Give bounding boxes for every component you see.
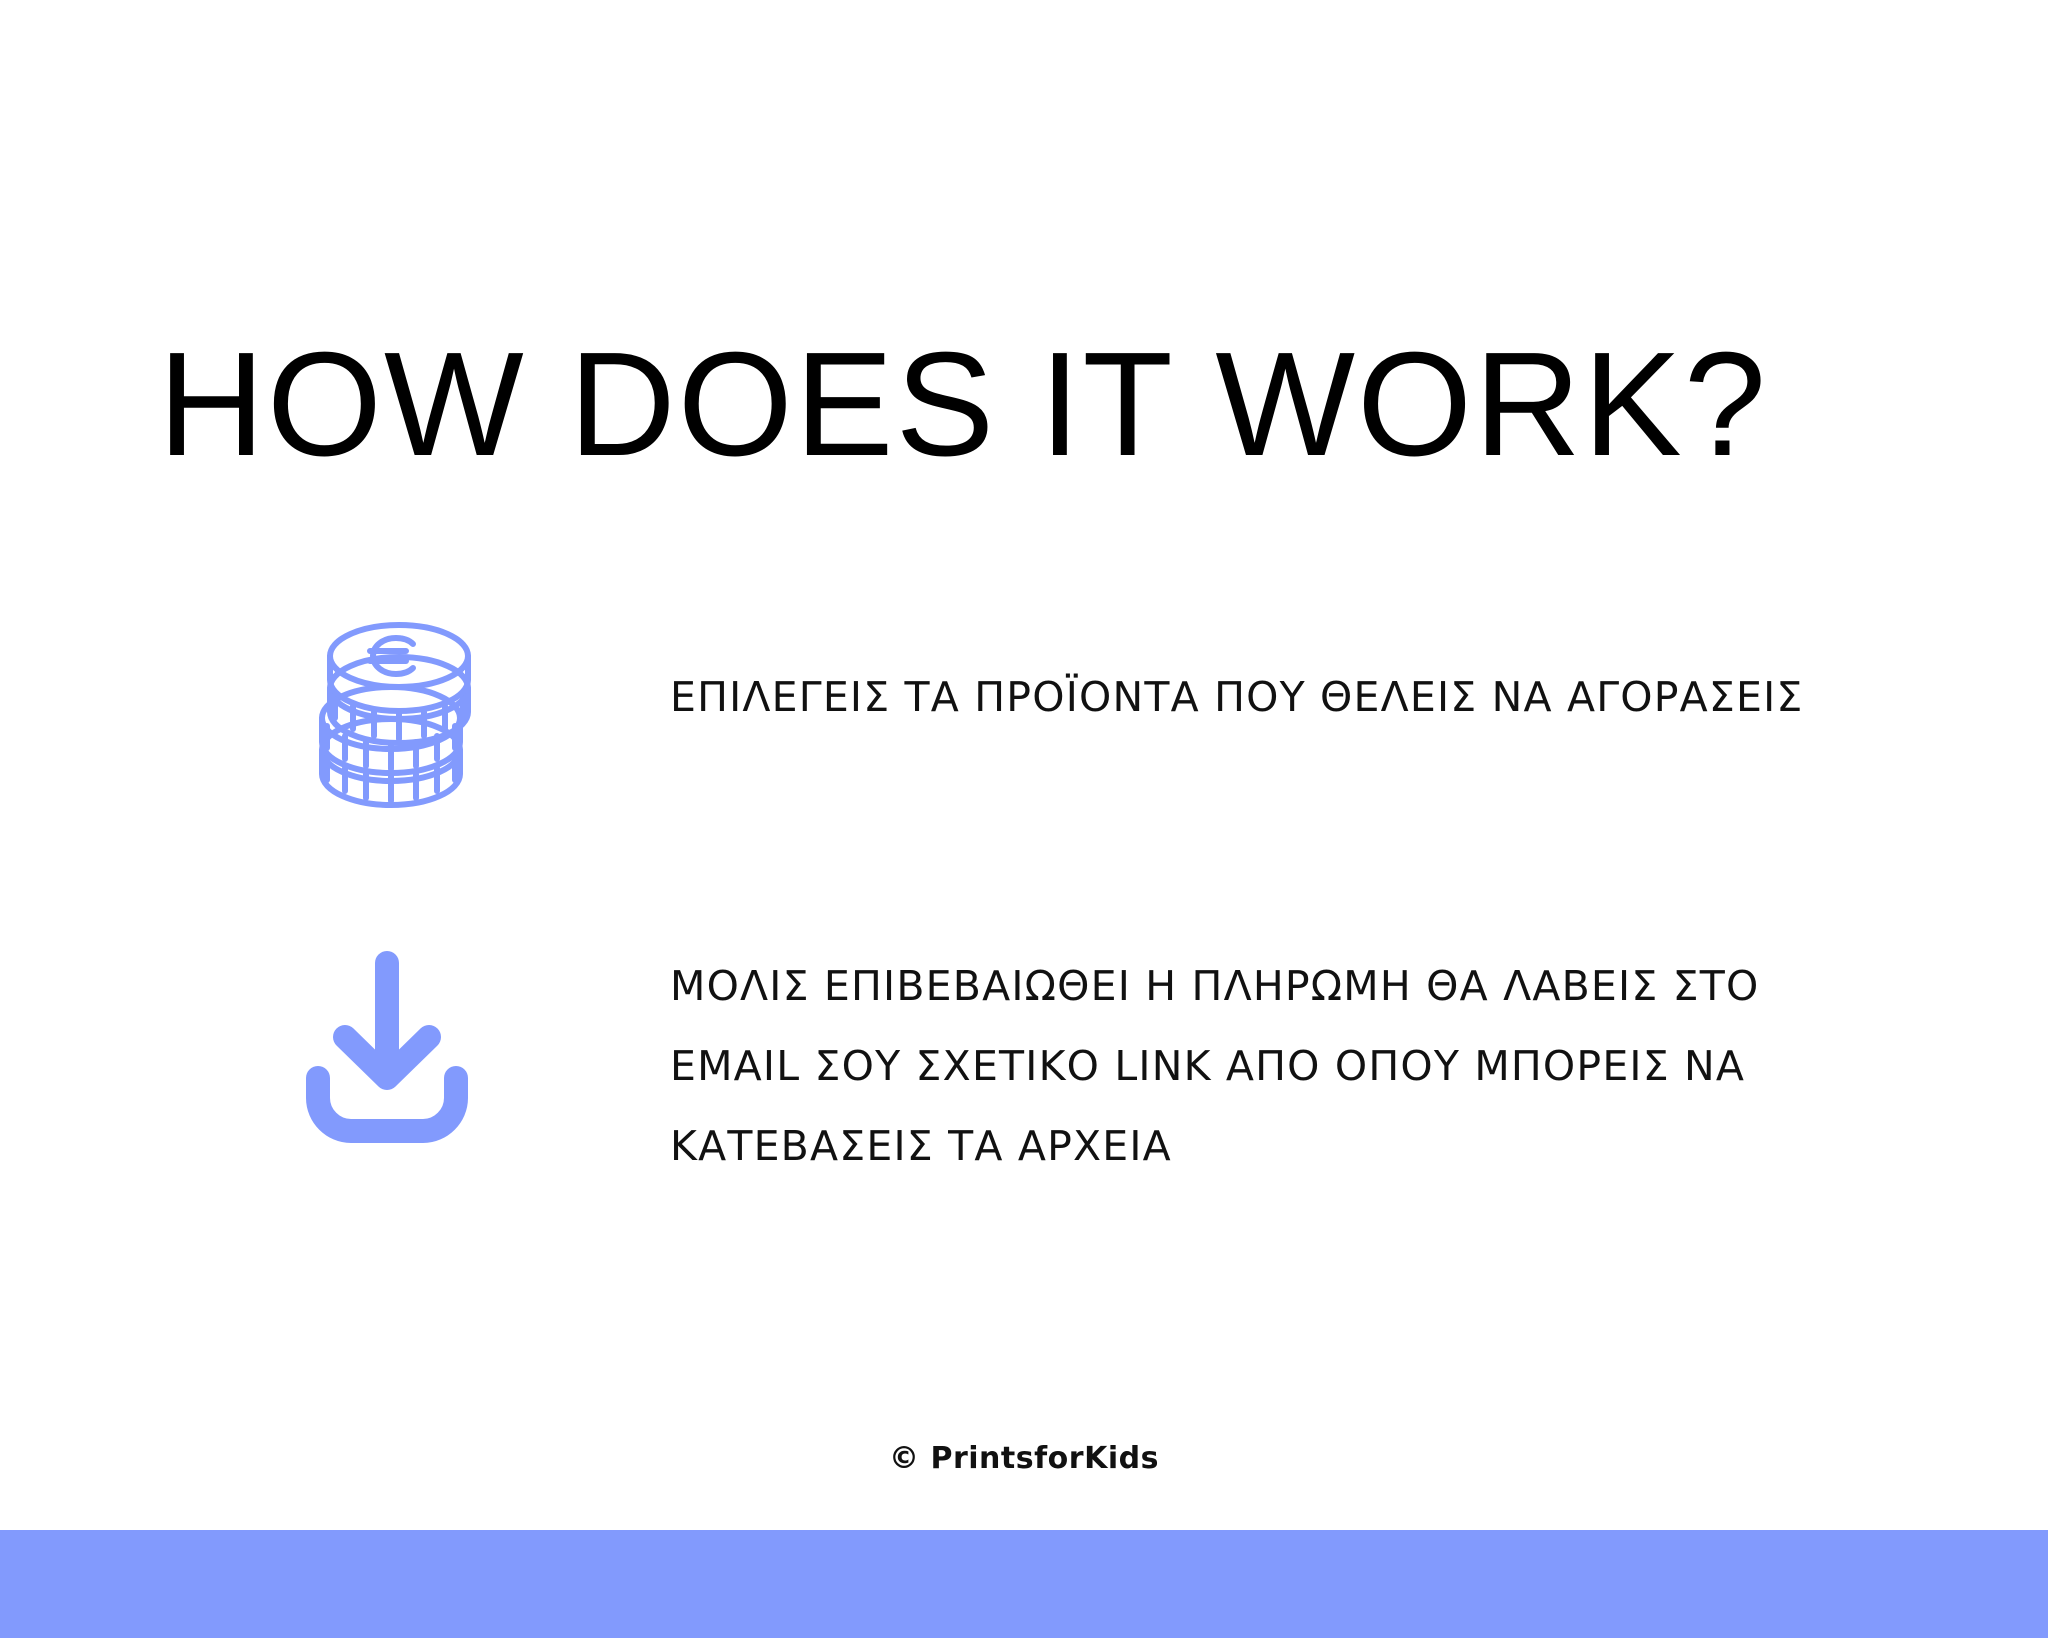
step-description: ΕΠΙΛΕΓΕΙΣ ΤΑ ΠΡΟΪΟΝΤΑ ΠΟΥ ΘΕΛΕΙΣ ΝΑ ΑΓΟΡ… (670, 600, 1804, 738)
euro-coins-stack-icon (300, 600, 480, 815)
step-text-line: ΚΑΤΕΒΑΣΕΙΣ ΤΑ ΑΡΧΕΙΑ (670, 1107, 1759, 1187)
step-description: ΜΟΛΙΣ ΕΠΙΒΕΒΑΙΩΘΕΙ Η ΠΛΗΡΩΜΗ ΘΑ ΛΑΒΕΙΣ Σ… (670, 945, 1759, 1187)
download-icon (300, 945, 480, 1150)
page-title: HOW DOES IT WORK? (158, 331, 1768, 479)
step-text-line: ΜΟΛΙΣ ΕΠΙΒΕΒΑΙΩΘΕΙ Η ΠΛΗΡΩΜΗ ΘΑ ΛΑΒΕΙΣ Σ… (670, 947, 1759, 1027)
step-item-purchase: ΕΠΙΛΕΓΕΙΣ ΤΑ ΠΡΟΪΟΝΤΑ ΠΟΥ ΘΕΛΕΙΣ ΝΑ ΑΓΟΡ… (300, 600, 1804, 815)
step-text-line: ΕΠΙΛΕΓΕΙΣ ΤΑ ΠΡΟΪΟΝΤΑ ΠΟΥ ΘΕΛΕΙΣ ΝΑ ΑΓΟΡ… (670, 658, 1804, 738)
step-text-line: EMAIL ΣΟΥ ΣΧΕΤΙΚΟ LINK ΑΠΟ ΟΠΟΥ ΜΠΟΡΕΙΣ … (670, 1027, 1759, 1107)
footer-copyright: © PrintsforKids (0, 1441, 2048, 1476)
bottom-accent-bar (0, 1530, 2048, 1638)
step-item-download: ΜΟΛΙΣ ΕΠΙΒΕΒΑΙΩΘΕΙ Η ΠΛΗΡΩΜΗ ΘΑ ΛΑΒΕΙΣ Σ… (300, 945, 1759, 1187)
slide-canvas: HOW DOES IT WORK? (0, 0, 2048, 1638)
